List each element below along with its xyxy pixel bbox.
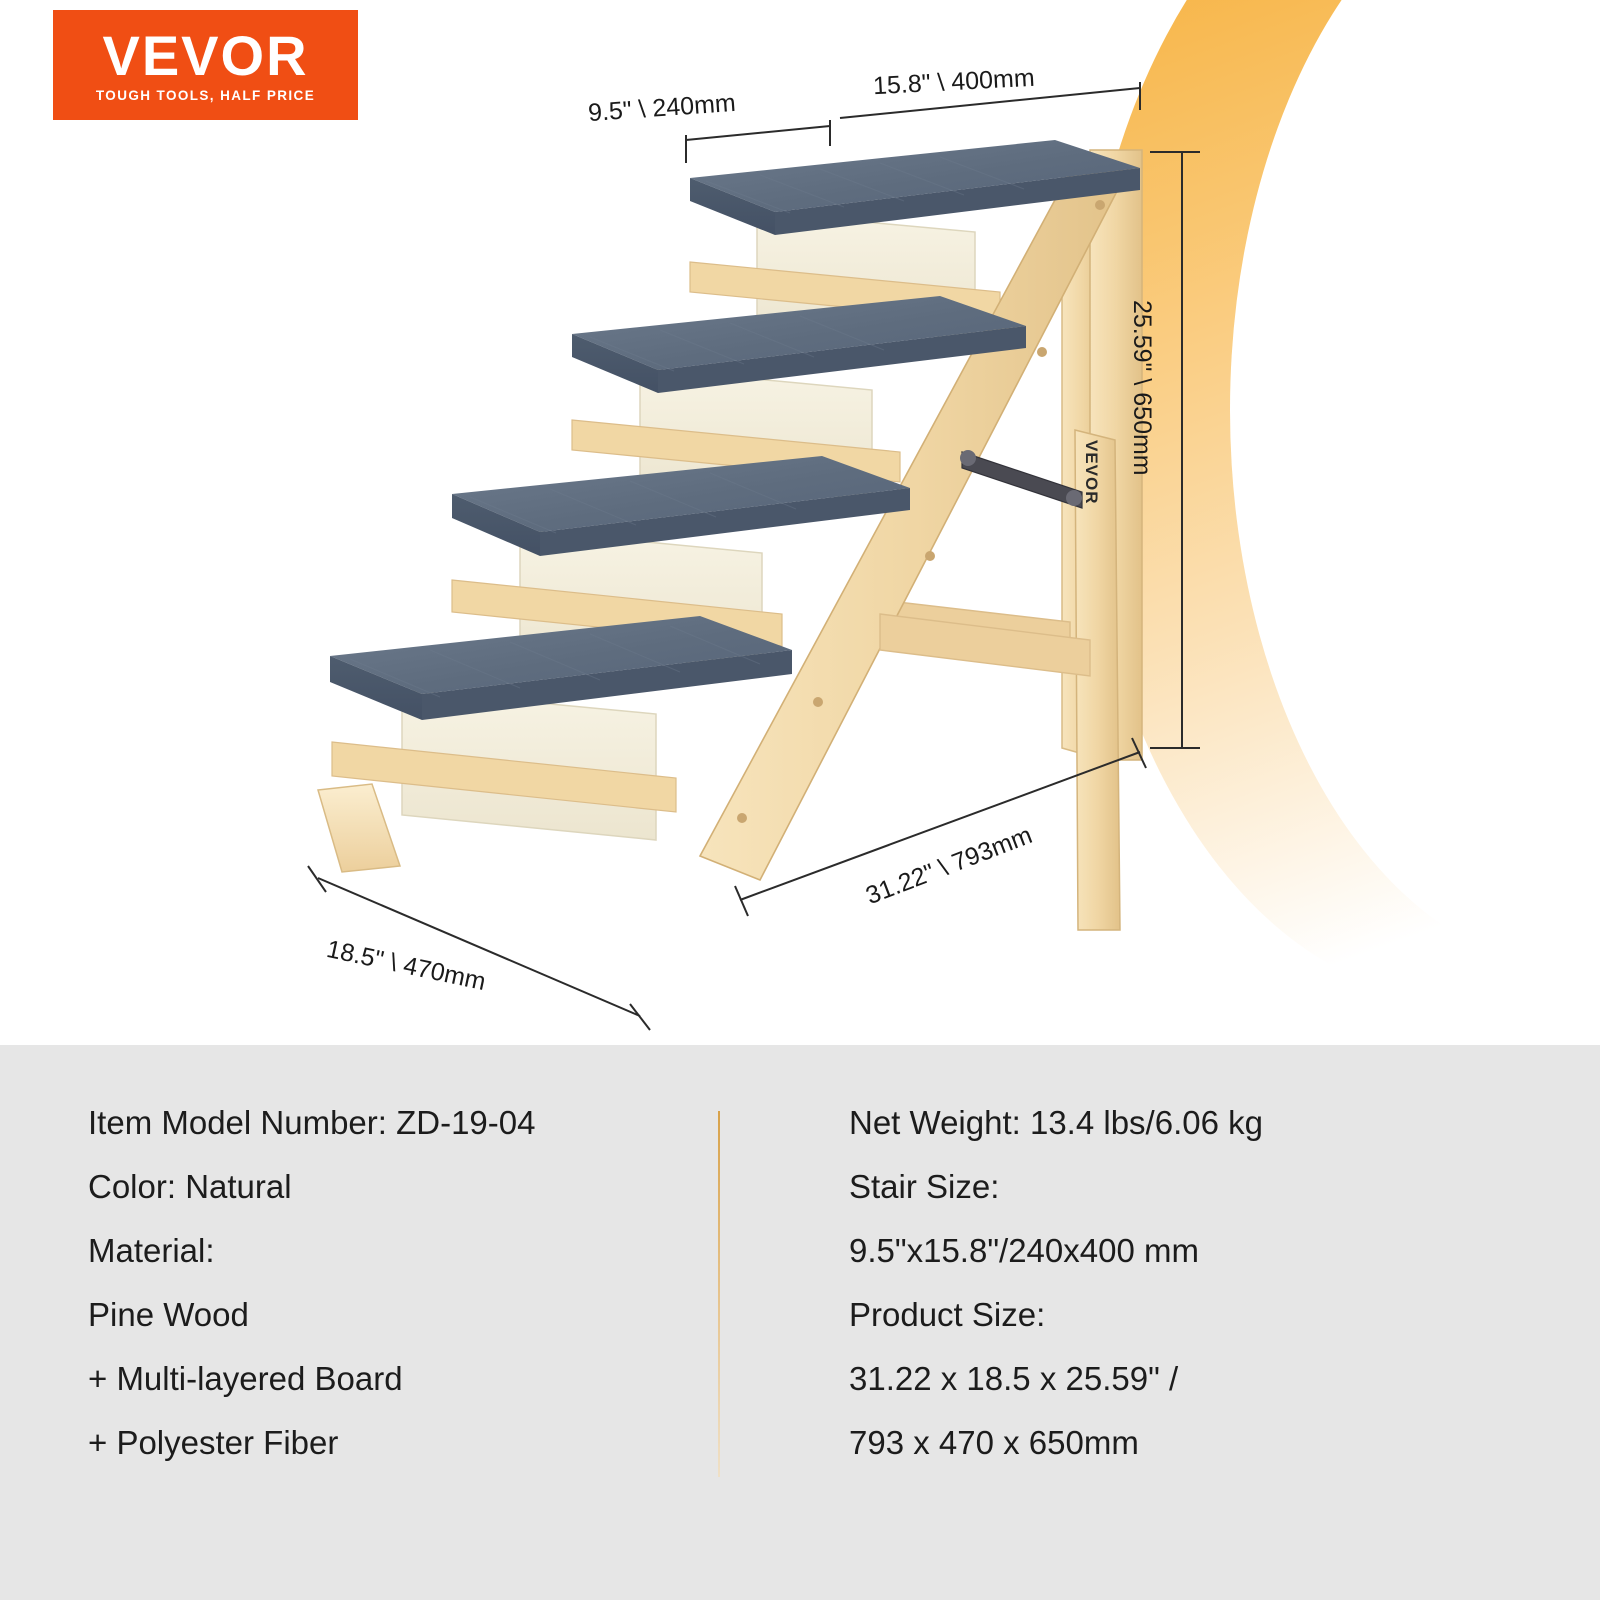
spec-item-product-size-in: 31.22 x 18.5 x 25.59" / [849,1347,1518,1411]
spec-column-right: Net Weight: 13.4 lbs/6.06 kg Stair Size:… [757,1091,1518,1561]
spec-item-material-3: + Polyester Fiber [88,1411,757,1475]
dimension-height: 25.59" \ 650mm [1127,300,1156,476]
spec-item-stair-size-label: Stair Size: [849,1155,1518,1219]
brand-logo: VEVOR TOUGH TOOLS, HALF PRICE [53,10,358,120]
spec-item-net-weight: Net Weight: 13.4 lbs/6.06 kg [849,1091,1518,1155]
product-spec-page: VEVOR [0,0,1600,1600]
product-hero: VEVOR [0,0,1600,1045]
brand-name: VEVOR [102,27,308,85]
spec-panel: Item Model Number: ZD-19-04 Color: Natur… [0,1045,1600,1600]
spec-item-material: Material: [88,1219,757,1283]
spec-item-material-1: Pine Wood [88,1283,757,1347]
spec-item-product-size-label: Product Size: [849,1283,1518,1347]
spec-item-product-size-mm: 793 x 470 x 650mm [849,1411,1518,1475]
svg-text:VEVOR: VEVOR [1082,440,1101,505]
spec-item-model-number: Item Model Number: ZD-19-04 [88,1091,757,1155]
spec-column-left: Item Model Number: ZD-19-04 Color: Natur… [88,1091,757,1561]
brand-tagline: TOUGH TOOLS, HALF PRICE [96,88,315,103]
spec-item-stair-size-value: 9.5"x15.8"/240x400 mm [849,1219,1518,1283]
pet-stairs-illustration: VEVOR [0,0,1600,1045]
spec-item-material-2: + Multi-layered Board [88,1347,757,1411]
spec-item-color: Color: Natural [88,1155,757,1219]
